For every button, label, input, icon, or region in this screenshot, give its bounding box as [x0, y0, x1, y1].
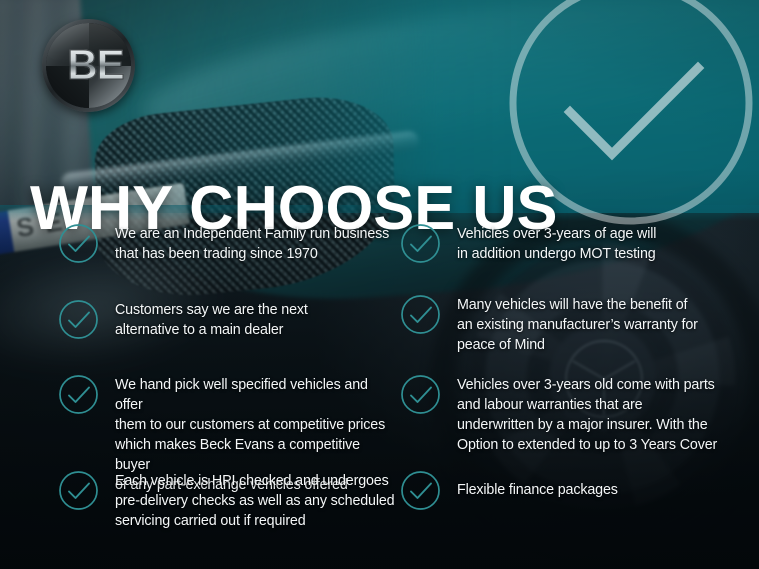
list-item-text: Customers say we are the next alternativ… [115, 298, 308, 340]
list-item-text: Vehicles over 3-years old come with part… [457, 373, 717, 455]
list-item-text: Flexible finance packages [457, 469, 618, 500]
check-circle-icon [400, 470, 441, 511]
list-item-text: Each vehicle is HPI checked and undergoe… [115, 469, 394, 531]
brand-logo[interactable]: BE [42, 19, 135, 112]
benefits-section: We are an Independent Family run busines… [0, 218, 759, 569]
list-item: Vehicles over 3-years of age will in add… [400, 222, 656, 264]
check-circle-icon [400, 294, 441, 335]
check-circle-icon [400, 223, 441, 264]
check-circle-icon [58, 223, 99, 264]
brand-logo-inner: BE [46, 23, 131, 108]
list-item: Each vehicle is HPI checked and undergoe… [58, 469, 394, 531]
why-choose-us-banner: S EF BE WHY CHOOSE US [0, 0, 759, 569]
list-item: Vehicles over 3-years old come with part… [400, 373, 717, 455]
list-item: Many vehicles will have the benefit of a… [400, 293, 698, 355]
check-circle-icon [400, 374, 441, 415]
list-item: Customers say we are the next alternativ… [58, 298, 308, 340]
check-circle-icon [58, 299, 99, 340]
list-item-text: Vehicles over 3-years of age will in add… [457, 222, 656, 264]
check-circle-icon [58, 374, 99, 415]
list-item-text: Many vehicles will have the benefit of a… [457, 293, 698, 355]
list-item-text: We are an Independent Family run busines… [115, 222, 389, 264]
list-item: Flexible finance packages [400, 469, 618, 511]
brand-logo-text: BE [46, 44, 131, 86]
check-circle-icon [58, 470, 99, 511]
list-item: We are an Independent Family run busines… [58, 222, 389, 264]
